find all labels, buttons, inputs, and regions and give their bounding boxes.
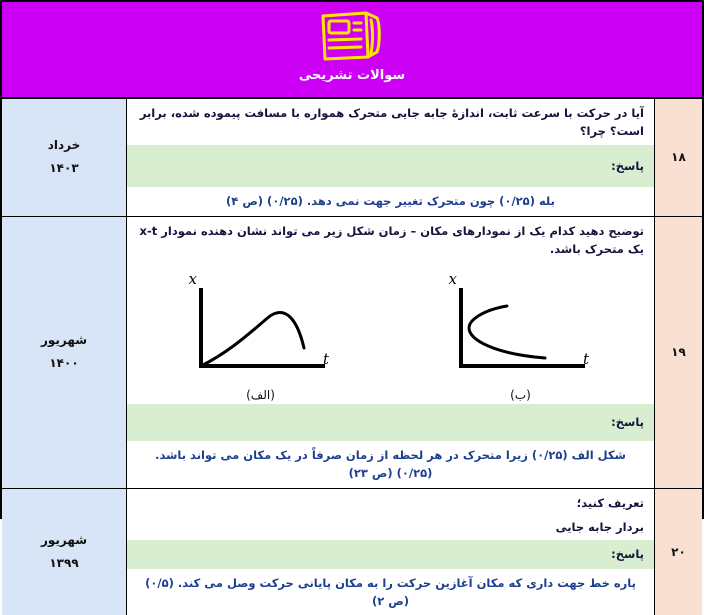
figure-caption: (ب) [510,388,531,402]
exam-year: ۱۳۹۹ [49,552,78,575]
figure-be: x t (ب) [426,266,616,402]
question-body: توضیح دهید کدام یک از نمودارهای مکان – ز… [127,217,654,488]
exam-date: خرداد ۱۴۰۳ [2,99,127,216]
exam-year: ۱۴۰۰ [49,352,78,375]
figure-alef: x t (الف) [166,266,356,402]
answer-label: پاسخ: [127,540,654,568]
answer-text: پاره خط جهت داری که مکان آغازین حرکت را … [127,569,654,615]
newspaper-icon [314,10,390,62]
axis-label-x: x [189,270,198,288]
table-row: ۲۰ تعریف کنید؛ بردار جابه جایی پاسخ: پار… [2,489,702,615]
question-number: ۱۹ [654,217,702,488]
page-root: سوالات تشریحی ۱۸ آیا در حرکت با سرعت ثاب… [0,0,704,519]
page-title: سوالات تشریحی [299,68,405,83]
page-header: سوالات تشریحی [2,2,702,97]
exam-month: شهریور [41,529,87,552]
axis-label-t: t [583,350,590,368]
question-text: تعریف کنید؛ [127,489,654,516]
questions-table: ۱۸ آیا در حرکت با سرعت ثابت، اندازهٔ جاب… [2,97,702,615]
answer-text: بله (۰/۲۵) چون متحرک تغییر جهت نمی دهد. … [127,187,654,215]
table-row: ۱۹ توضیح دهید کدام یک از نمودارهای مکان … [2,217,702,489]
exam-date: شهریور ۱۳۹۹ [2,489,127,615]
table-row: ۱۸ آیا در حرکت با سرعت ثابت، اندازهٔ جاب… [2,99,702,217]
graph-alef-svg: x t [173,266,348,386]
figure-group: x t (الف) x t [127,262,654,404]
exam-month: شهریور [41,329,87,352]
question-text: توضیح دهید کدام یک از نمودارهای مکان – ز… [127,217,654,263]
axis-label-x: x [449,270,458,288]
answer-label: پاسخ: [127,404,654,440]
question-body: آیا در حرکت با سرعت ثابت، اندازهٔ جابه ج… [127,99,654,216]
exam-month: خرداد [48,134,81,157]
axis-label-t: t [323,350,330,368]
question-number: ۲۰ [654,489,702,615]
graph-be-svg: x t [433,266,608,386]
answer-text: شکل الف (۰/۲۵) زیرا متحرک در هر لحظه از … [127,441,654,488]
question-body: تعریف کنید؛ بردار جابه جایی پاسخ: پاره خ… [127,489,654,615]
question-number: ۱۸ [654,99,702,216]
question-text-line2: بردار جابه جایی [127,516,654,540]
answer-label: پاسخ: [127,145,654,187]
exam-year: ۱۴۰۳ [49,157,78,180]
question-text: آیا در حرکت با سرعت ثابت، اندازهٔ جابه ج… [127,99,654,145]
figure-caption: (الف) [246,388,275,402]
exam-date: شهریور ۱۴۰۰ [2,217,127,488]
